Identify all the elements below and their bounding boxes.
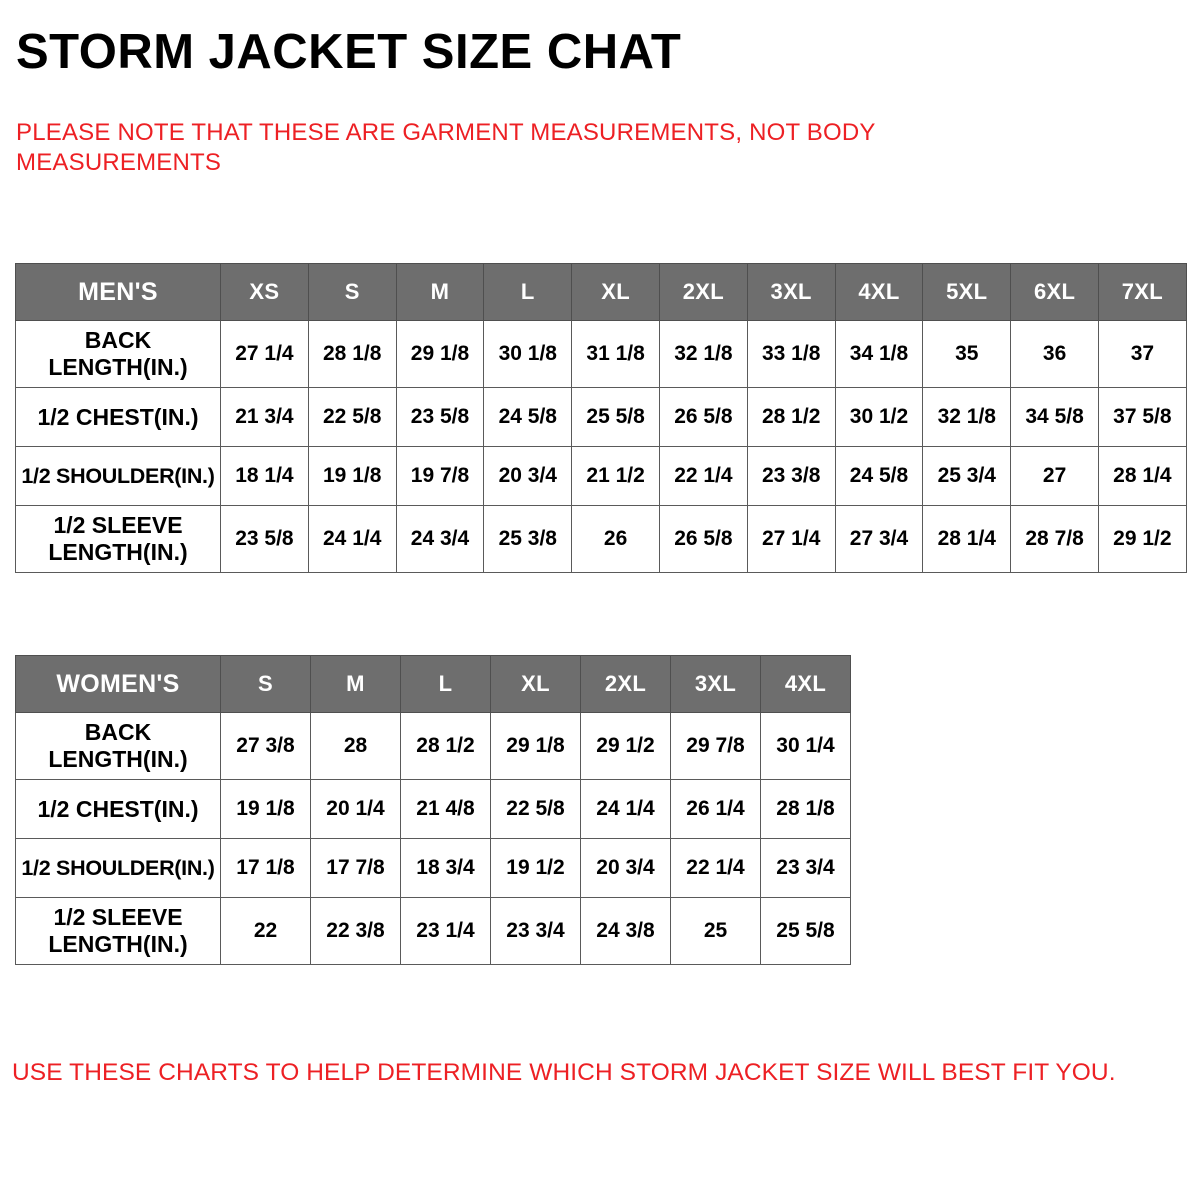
womens-row-label: 1/2 SHOULDER(IN.) xyxy=(16,839,221,898)
measurement-cell: 30 1/2 xyxy=(835,388,923,447)
mens-size-header-5xl: 5XL xyxy=(923,264,1011,321)
measurement-cell: 28 1/2 xyxy=(401,713,491,780)
womens-table-body: BACKLENGTH(IN.)27 3/82828 1/229 1/829 1/… xyxy=(16,713,851,965)
womens-size-header-4xl: 4XL xyxy=(761,656,851,713)
mens-size-table: MEN'SXSSMLXL2XL3XL4XL5XL6XL7XL BACKLENGT… xyxy=(15,263,1187,573)
measurement-cell: 25 5/8 xyxy=(761,898,851,965)
measurement-cell: 29 1/8 xyxy=(396,321,484,388)
womens-row-label: 1/2 CHEST(IN.) xyxy=(16,780,221,839)
measurement-cell: 33 1/8 xyxy=(747,321,835,388)
measurement-cell: 23 5/8 xyxy=(221,506,309,573)
measurement-cell: 30 1/4 xyxy=(761,713,851,780)
measurement-cell: 27 3/8 xyxy=(221,713,311,780)
measurement-cell: 24 3/4 xyxy=(396,506,484,573)
help-determine-note: USE THESE CHARTS TO HELP DETERMINE WHICH… xyxy=(12,1058,1172,1088)
measurement-cell: 26 5/8 xyxy=(659,388,747,447)
measurement-cell: 32 1/8 xyxy=(923,388,1011,447)
measurement-cell: 26 xyxy=(572,506,660,573)
measurement-cell: 22 3/8 xyxy=(311,898,401,965)
mens-size-header-3xl: 3XL xyxy=(747,264,835,321)
mens-size-header-l: L xyxy=(484,264,572,321)
womens-size-table: WOMEN'SSMLXL2XL3XL4XL BACKLENGTH(IN.)27 … xyxy=(15,655,851,965)
measurement-cell: 23 3/8 xyxy=(747,447,835,506)
womens-size-header-xl: XL xyxy=(491,656,581,713)
measurement-cell: 21 4/8 xyxy=(401,780,491,839)
table-row: 1/2 CHEST(IN.)19 1/820 1/421 4/822 5/824… xyxy=(16,780,851,839)
table-row: 1/2 SHOULDER(IN.)17 1/817 7/818 3/419 1/… xyxy=(16,839,851,898)
table-row: BACKLENGTH(IN.)27 3/82828 1/229 1/829 1/… xyxy=(16,713,851,780)
size-chart-page: STORM JACKET SIZE CHAT PLEASE NOTE THAT … xyxy=(0,0,1200,1200)
measurement-cell: 25 3/4 xyxy=(923,447,1011,506)
measurement-cell: 19 1/2 xyxy=(491,839,581,898)
table-row: 1/2 SHOULDER(IN.)18 1/419 1/819 7/820 3/… xyxy=(16,447,1187,506)
mens-table-header: MEN'SXSSMLXL2XL3XL4XL5XL6XL7XL xyxy=(16,264,1187,321)
measurement-cell: 28 1/4 xyxy=(923,506,1011,573)
mens-size-header-7xl: 7XL xyxy=(1098,264,1186,321)
measurement-cell: 28 1/2 xyxy=(747,388,835,447)
mens-size-header-4xl: 4XL xyxy=(835,264,923,321)
page-title: STORM JACKET SIZE CHAT xyxy=(16,24,681,80)
measurement-cell: 21 3/4 xyxy=(221,388,309,447)
measurement-cell: 22 5/8 xyxy=(491,780,581,839)
measurement-cell: 35 xyxy=(923,321,1011,388)
mens-table-body: BACKLENGTH(IN.)27 1/428 1/829 1/830 1/83… xyxy=(16,321,1187,573)
measurement-cell: 27 1/4 xyxy=(747,506,835,573)
measurement-cell: 18 3/4 xyxy=(401,839,491,898)
mens-size-header-xl: XL xyxy=(572,264,660,321)
measurement-cell: 37 xyxy=(1098,321,1186,388)
measurement-cell: 22 1/4 xyxy=(659,447,747,506)
womens-size-header-3xl: 3XL xyxy=(671,656,761,713)
womens-size-header-2xl: 2XL xyxy=(581,656,671,713)
measurement-cell: 17 7/8 xyxy=(311,839,401,898)
measurement-cell: 24 1/4 xyxy=(308,506,396,573)
measurement-cell: 21 1/2 xyxy=(572,447,660,506)
mens-row-label: 1/2 SHOULDER(IN.) xyxy=(16,447,221,506)
measurement-cell: 23 3/4 xyxy=(491,898,581,965)
measurement-cell: 34 1/8 xyxy=(835,321,923,388)
measurement-cell: 20 3/4 xyxy=(581,839,671,898)
measurement-cell: 20 3/4 xyxy=(484,447,572,506)
mens-row-label: 1/2 SLEEVELENGTH(IN.) xyxy=(16,506,221,573)
measurement-cell: 22 1/4 xyxy=(671,839,761,898)
womens-row-label: 1/2 SLEEVELENGTH(IN.) xyxy=(16,898,221,965)
mens-row-label: BACKLENGTH(IN.) xyxy=(16,321,221,388)
measurement-cell: 24 1/4 xyxy=(581,780,671,839)
measurement-cell: 24 5/8 xyxy=(484,388,572,447)
measurement-cell: 26 5/8 xyxy=(659,506,747,573)
measurement-cell: 23 5/8 xyxy=(396,388,484,447)
mens-size-header-2xl: 2XL xyxy=(659,264,747,321)
measurement-cell: 22 xyxy=(221,898,311,965)
womens-corner-header: WOMEN'S xyxy=(16,656,221,713)
mens-size-header-m: M xyxy=(396,264,484,321)
garment-measurement-note: PLEASE NOTE THAT THESE ARE GARMENT MEASU… xyxy=(16,118,966,178)
measurement-cell: 18 1/4 xyxy=(221,447,309,506)
table-row: 1/2 SLEEVELENGTH(IN.)2222 3/823 1/423 3/… xyxy=(16,898,851,965)
mens-corner-header: MEN'S xyxy=(16,264,221,321)
measurement-cell: 29 1/2 xyxy=(581,713,671,780)
measurement-cell: 27 1/4 xyxy=(221,321,309,388)
measurement-cell: 29 1/8 xyxy=(491,713,581,780)
mens-size-header-6xl: 6XL xyxy=(1011,264,1099,321)
measurement-cell: 34 5/8 xyxy=(1011,388,1099,447)
measurement-cell: 17 1/8 xyxy=(221,839,311,898)
measurement-cell: 31 1/8 xyxy=(572,321,660,388)
mens-size-header-xs: XS xyxy=(221,264,309,321)
measurement-cell: 28 xyxy=(311,713,401,780)
measurement-cell: 29 7/8 xyxy=(671,713,761,780)
mens-row-label: 1/2 CHEST(IN.) xyxy=(16,388,221,447)
mens-header-row: MEN'SXSSMLXL2XL3XL4XL5XL6XL7XL xyxy=(16,264,1187,321)
measurement-cell: 19 1/8 xyxy=(308,447,396,506)
measurement-cell: 36 xyxy=(1011,321,1099,388)
measurement-cell: 27 3/4 xyxy=(835,506,923,573)
measurement-cell: 25 3/8 xyxy=(484,506,572,573)
table-row: 1/2 SLEEVELENGTH(IN.)23 5/824 1/424 3/42… xyxy=(16,506,1187,573)
measurement-cell: 28 7/8 xyxy=(1011,506,1099,573)
measurement-cell: 23 3/4 xyxy=(761,839,851,898)
measurement-cell: 22 5/8 xyxy=(308,388,396,447)
table-row: 1/2 CHEST(IN.)21 3/422 5/823 5/824 5/825… xyxy=(16,388,1187,447)
measurement-cell: 30 1/8 xyxy=(484,321,572,388)
womens-header-row: WOMEN'SSMLXL2XL3XL4XL xyxy=(16,656,851,713)
table-row: BACKLENGTH(IN.)27 1/428 1/829 1/830 1/83… xyxy=(16,321,1187,388)
measurement-cell: 20 1/4 xyxy=(311,780,401,839)
measurement-cell: 24 3/8 xyxy=(581,898,671,965)
measurement-cell: 28 1/8 xyxy=(308,321,396,388)
measurement-cell: 19 7/8 xyxy=(396,447,484,506)
measurement-cell: 25 xyxy=(671,898,761,965)
measurement-cell: 29 1/2 xyxy=(1098,506,1186,573)
measurement-cell: 24 5/8 xyxy=(835,447,923,506)
womens-row-label: BACKLENGTH(IN.) xyxy=(16,713,221,780)
womens-size-header-s: S xyxy=(221,656,311,713)
measurement-cell: 37 5/8 xyxy=(1098,388,1186,447)
measurement-cell: 25 5/8 xyxy=(572,388,660,447)
measurement-cell: 28 1/8 xyxy=(761,780,851,839)
measurement-cell: 27 xyxy=(1011,447,1099,506)
womens-size-header-l: L xyxy=(401,656,491,713)
measurement-cell: 26 1/4 xyxy=(671,780,761,839)
measurement-cell: 19 1/8 xyxy=(221,780,311,839)
mens-size-header-s: S xyxy=(308,264,396,321)
womens-table-header: WOMEN'SSMLXL2XL3XL4XL xyxy=(16,656,851,713)
womens-size-header-m: M xyxy=(311,656,401,713)
measurement-cell: 28 1/4 xyxy=(1098,447,1186,506)
measurement-cell: 32 1/8 xyxy=(659,321,747,388)
measurement-cell: 23 1/4 xyxy=(401,898,491,965)
